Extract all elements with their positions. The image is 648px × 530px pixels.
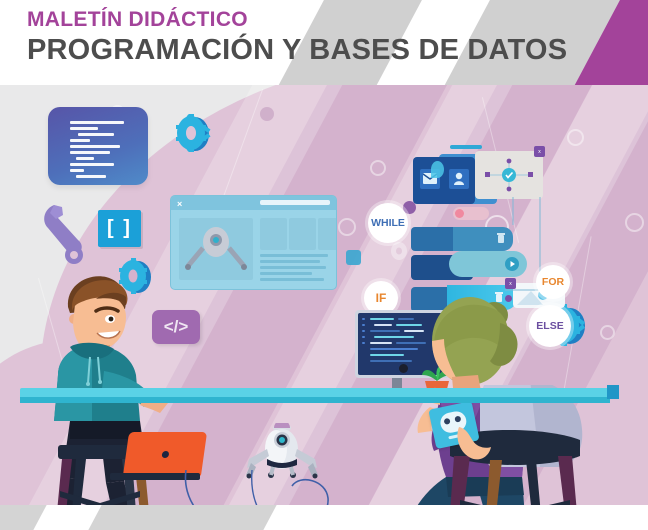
mail-contact-card[interactable] xyxy=(413,157,475,204)
floor-band xyxy=(0,505,648,530)
desk-end-cap xyxy=(607,385,619,399)
header-text-block: MALETÍN DIDÁCTICO PROGRAMACIÓN Y BASES D… xyxy=(27,8,567,66)
badge-label: IF xyxy=(376,291,387,305)
bracket-chip-icon: [ ] xyxy=(98,210,141,247)
address-bar[interactable] xyxy=(260,200,330,205)
close-icon[interactable]: × xyxy=(177,199,182,209)
decor-ring xyxy=(567,129,584,146)
poster-header: MALETÍN DIDÁCTICO PROGRAMACIÓN Y BASES D… xyxy=(0,0,648,85)
hand-graphic xyxy=(455,415,495,463)
product-thumbnail[interactable] xyxy=(318,218,337,250)
badge-while: WHILE xyxy=(368,203,408,243)
product-thumbnail[interactable] xyxy=(260,218,287,250)
flow-diagram-card[interactable] xyxy=(475,151,543,199)
desk-edge xyxy=(20,397,610,403)
laptop-logo xyxy=(161,451,169,458)
decor-ring xyxy=(625,213,644,232)
poster-root: MALETÍN DIDÁCTICO PROGRAMACIÓN Y BASES D… xyxy=(0,0,648,530)
accent-bar xyxy=(450,145,482,149)
toggle-pill[interactable] xyxy=(453,207,489,220)
person-icon xyxy=(454,172,464,185)
illustration-scene: [ ] </> xyxy=(0,85,648,530)
notification-bubble xyxy=(431,161,444,178)
floor-diagonal xyxy=(0,505,47,530)
code-lines-card-icon xyxy=(48,107,148,185)
badge-label: WHILE xyxy=(371,217,405,229)
close-icon[interactable]: x xyxy=(534,146,545,157)
decor-dot xyxy=(260,107,274,121)
wrench-icon xyxy=(38,203,84,269)
product-thumbnail[interactable] xyxy=(289,218,316,250)
decor-ring xyxy=(338,218,356,236)
gear-icon xyxy=(175,113,211,153)
page-title: PROGRAMACIÓN Y BASES DE DATOS xyxy=(27,35,567,67)
floor-diagonal xyxy=(88,505,276,530)
header-kicker: MALETÍN DIDÁCTICO xyxy=(27,8,567,32)
decor-ring xyxy=(600,325,615,340)
arrow-chip-icon xyxy=(346,250,361,265)
decor-ring xyxy=(370,160,386,176)
